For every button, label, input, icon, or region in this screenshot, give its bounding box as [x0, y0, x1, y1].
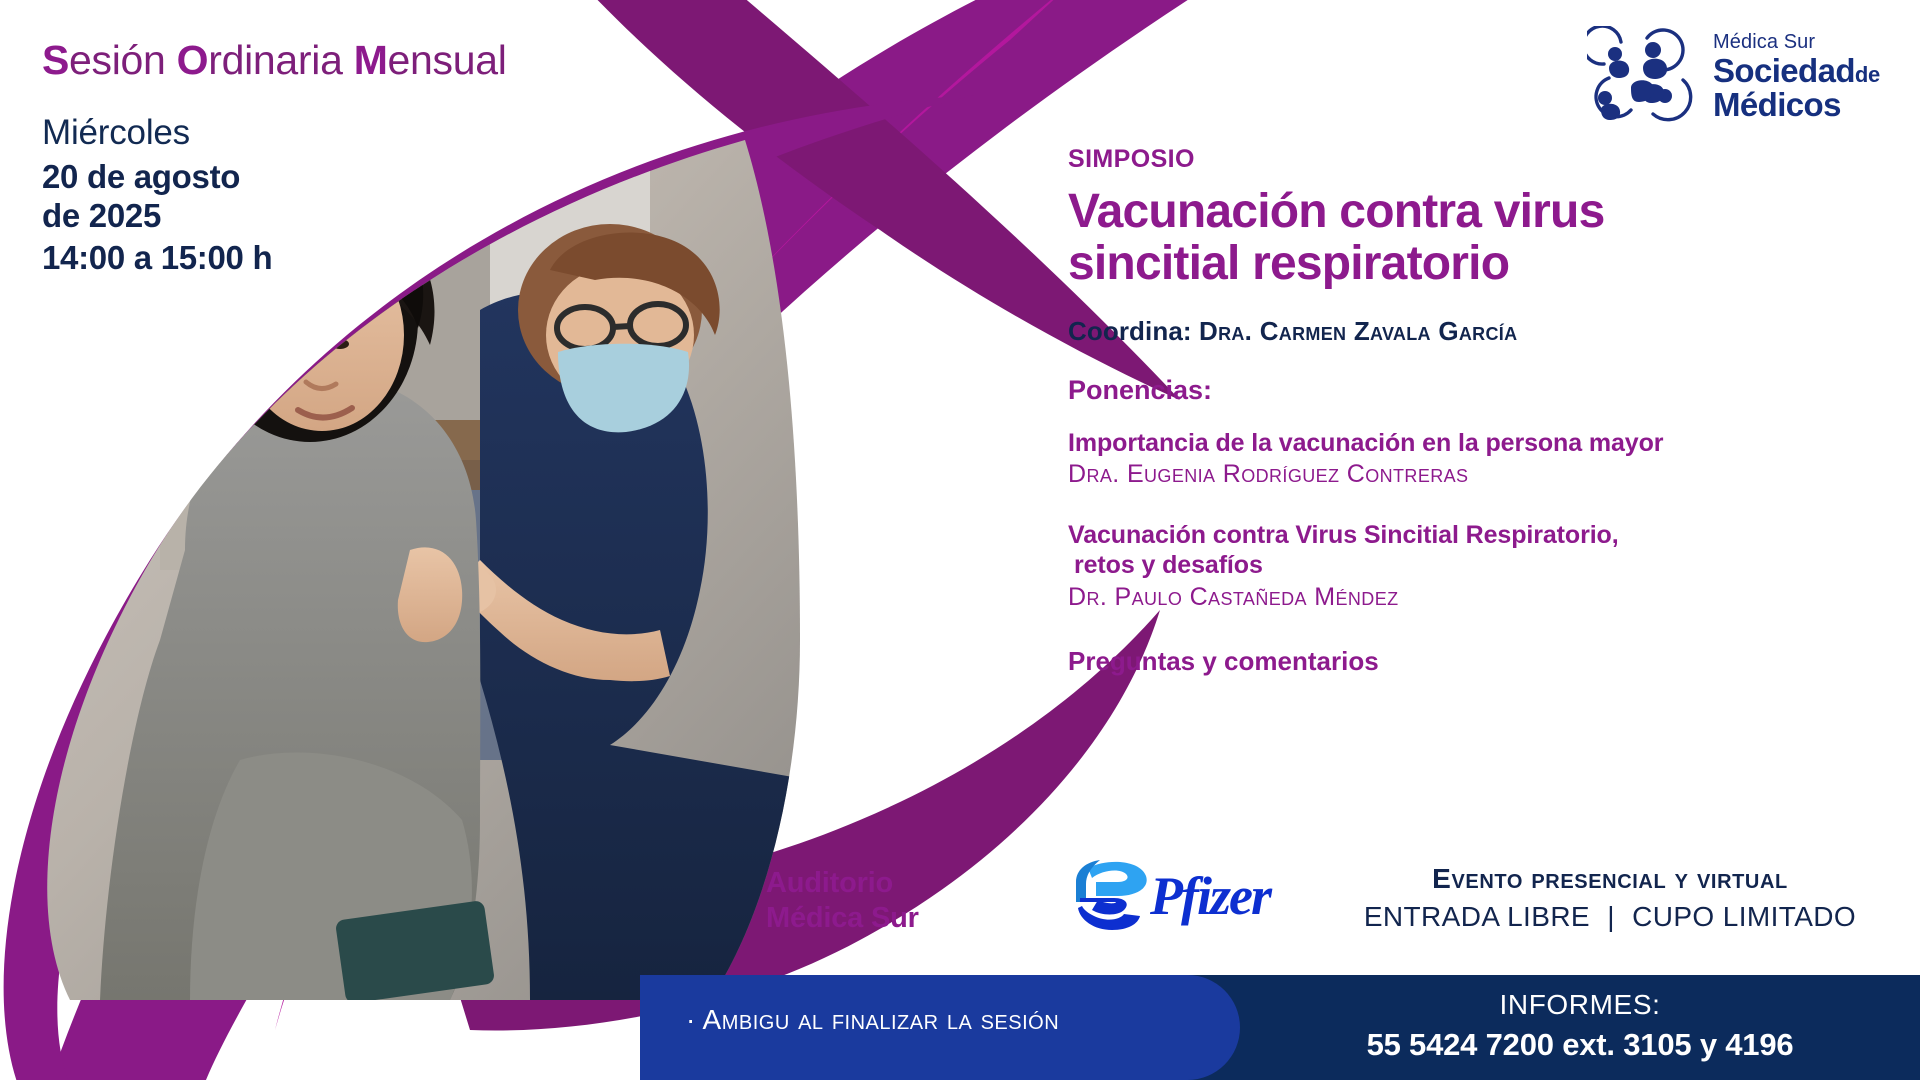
talk-title: Importancia de la vacunación en la perso… [1068, 428, 1868, 459]
program-kicker: SIMPOSIO [1068, 145, 1868, 174]
program-title-line1: Vacunación contra virus [1068, 185, 1604, 238]
logo-wordmark: Médica Sur Sociedadde Médicos [1713, 32, 1880, 121]
coordinator-name: Dra. Carmen Zavala García [1199, 316, 1517, 346]
program-title: Vacunación contra virus sincitial respir… [1068, 186, 1868, 290]
pfizer-logo: Pfizer [1068, 852, 1308, 938]
event-date-line2: de 2025 [42, 197, 161, 234]
talk-speaker: Dra. Eugenia Rodríguez Contreras [1068, 460, 1868, 490]
logo-line-2: Sociedadde [1713, 54, 1880, 87]
footer-note: · Ambigu al finalizar la sesión [686, 1004, 1059, 1036]
talk-item: Importancia de la vacunación en la perso… [1068, 428, 1868, 490]
contact-block: INFORMES: 55 5424 7200 ext. 3105 y 4196 [1240, 988, 1920, 1063]
talk-speaker: Dr. Paulo Castañeda Méndez [1068, 583, 1868, 613]
venue-line-2: Médica Sur [766, 901, 919, 936]
attendance-separator: | [1598, 901, 1624, 932]
talk-title-line2: retos y desafíos [1068, 550, 1868, 581]
logo-line-3: Médicos [1713, 88, 1880, 121]
entrada-libre-label: ENTRADA LIBRE [1364, 901, 1590, 932]
attendance-details: ENTRADA LIBRE | CUPO LIMITADO [1350, 900, 1870, 934]
logo-sociedad: Sociedad [1713, 52, 1855, 89]
logo-line-1: Médica Sur [1713, 32, 1880, 52]
session-title: Sesión Ordinaria Mensual [42, 38, 662, 84]
people-cluster-icon [1587, 26, 1699, 126]
closing-item: Preguntas y comentarios [1068, 646, 1868, 677]
event-time: 14:00 a 15:00 h [42, 239, 662, 277]
event-poster: Sesión Ordinaria Mensual Miércoles 20 de… [0, 0, 1920, 1080]
coordinator-line: Coordina: Dra. Carmen Zavala García [1068, 316, 1868, 347]
talk-title-line1: Vacunación contra Virus Sincitial Respir… [1068, 521, 1619, 549]
informes-label: INFORMES: [1240, 988, 1920, 1022]
weekday-label: Miércoles [42, 114, 662, 153]
venue-line-1: Auditorio [766, 866, 919, 901]
program-title-line2: sincitial respiratorio [1068, 237, 1509, 290]
attendance-block: Evento presencial y virtual ENTRADA LIBR… [1350, 862, 1870, 933]
talk-title: Vacunación contra Virus Sincitial Respir… [1068, 520, 1868, 581]
program-block: SIMPOSIO Vacunación contra virus sinciti… [1068, 145, 1868, 677]
medica-sur-logo: Médica Sur Sociedadde Médicos [1587, 26, 1880, 126]
venue-block: Auditorio Médica Sur [766, 866, 919, 937]
session-info-block: Sesión Ordinaria Mensual Miércoles 20 de… [42, 38, 662, 277]
svg-text:Pfizer: Pfizer [1149, 866, 1273, 926]
event-date-line1: 20 de agosto [42, 158, 240, 195]
talk-item: Vacunación contra Virus Sincitial Respir… [1068, 520, 1868, 613]
attendance-headline: Evento presencial y virtual [1350, 862, 1870, 896]
coordinator-label: Coordina: [1068, 316, 1192, 346]
talks-label: Ponencias: [1068, 375, 1868, 406]
cupo-limitado-label: CUPO LIMITADO [1632, 901, 1856, 932]
informes-phone: 55 5424 7200 ext. 3105 y 4196 [1240, 1026, 1920, 1063]
event-date: 20 de agosto de 2025 [42, 158, 662, 235]
logo-de: de [1855, 62, 1880, 87]
